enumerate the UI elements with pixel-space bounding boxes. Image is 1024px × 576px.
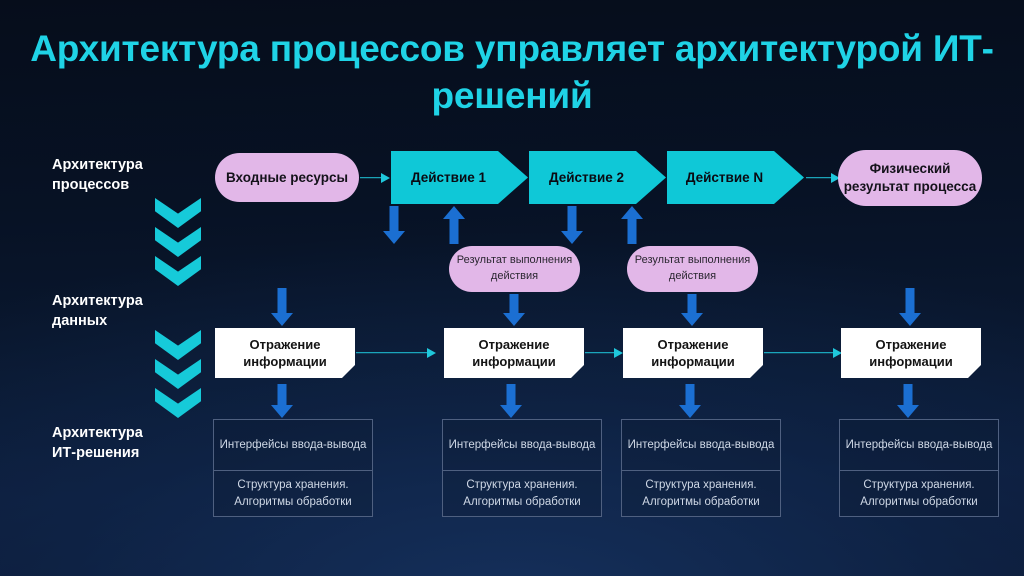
it-interfaces-node-4[interactable]: Интерфейсы ввода-вывода [839, 419, 999, 471]
it-interfaces-node-1[interactable]: Интерфейсы ввода-вывода [213, 419, 373, 471]
process-output-node[interactable]: Физический результат процесса [838, 150, 982, 206]
process-action-n[interactable]: Действие N [667, 151, 804, 204]
action-result-node-2[interactable]: Результат выполнения действия [627, 246, 758, 292]
arrow-action-2-to-result [561, 206, 583, 244]
page-title: Архитектура процессов управляет архитект… [0, 26, 1024, 120]
chevron-down-icon [155, 359, 201, 389]
chevron-down-icon [155, 198, 201, 228]
action-result-node-1[interactable]: Результат выполнения действия [449, 246, 580, 292]
it-storage-node-3[interactable]: Структура хранения. Алгоритмы обработки [621, 470, 781, 517]
it-storage-node-4[interactable]: Структура хранения. Алгоритмы обработки [839, 470, 999, 517]
chevron-down-icon [155, 330, 201, 360]
process-action-1[interactable]: Действие 1 [391, 151, 528, 204]
arrow-to-data-node-1 [271, 288, 293, 326]
it-interfaces-node-3[interactable]: Интерфейсы ввода-вывода [621, 419, 781, 471]
arrow-result-to-action-n [621, 206, 643, 244]
connector-data-1-to-2 [356, 347, 436, 358]
arrow-to-data-node-4 [899, 288, 921, 326]
it-storage-node-2[interactable]: Структура хранения. Алгоритмы обработки [442, 470, 602, 517]
arrow-to-it-node-4 [897, 384, 919, 418]
process-action-2[interactable]: Действие 2 [529, 151, 666, 204]
chevron-stack-upper [155, 198, 201, 286]
slide-canvas: Архитектура процессов управляет архитект… [0, 0, 1024, 576]
connector-action-n-to-output [806, 172, 840, 183]
it-storage-node-1[interactable]: Структура хранения. Алгоритмы обработки [213, 470, 373, 517]
chevron-down-icon [155, 256, 201, 286]
data-node-3[interactable]: Отражение информации [623, 328, 763, 378]
data-node-1[interactable]: Отражение информации [215, 328, 355, 378]
chevron-stack-lower [155, 330, 201, 418]
data-node-4[interactable]: Отражение информации [841, 328, 981, 378]
connector-data-2-to-3 [585, 347, 623, 358]
arrow-to-it-node-2 [500, 384, 522, 418]
layer-label-it-solution-architecture: Архитектура ИТ-решения [52, 424, 143, 463]
chevron-down-icon [155, 388, 201, 418]
connector-input-to-action-1 [360, 172, 390, 183]
it-interfaces-node-2[interactable]: Интерфейсы ввода-вывода [442, 419, 602, 471]
arrow-to-it-node-1 [271, 384, 293, 418]
layer-label-data-architecture: Архитектура данных [52, 292, 143, 331]
connector-data-3-to-4 [764, 347, 842, 358]
arrow-action-1-to-result [383, 206, 405, 244]
arrow-to-it-node-3 [679, 384, 701, 418]
arrow-to-data-node-3 [681, 294, 703, 326]
arrow-result-to-action-2 [443, 206, 465, 244]
arrow-to-data-node-2 [503, 294, 525, 326]
chevron-down-icon [155, 227, 201, 257]
data-node-2[interactable]: Отражение информации [444, 328, 584, 378]
layer-label-process-architecture: Архитектура процессов [52, 156, 143, 195]
process-input-node[interactable]: Входные ресурсы [215, 153, 359, 202]
